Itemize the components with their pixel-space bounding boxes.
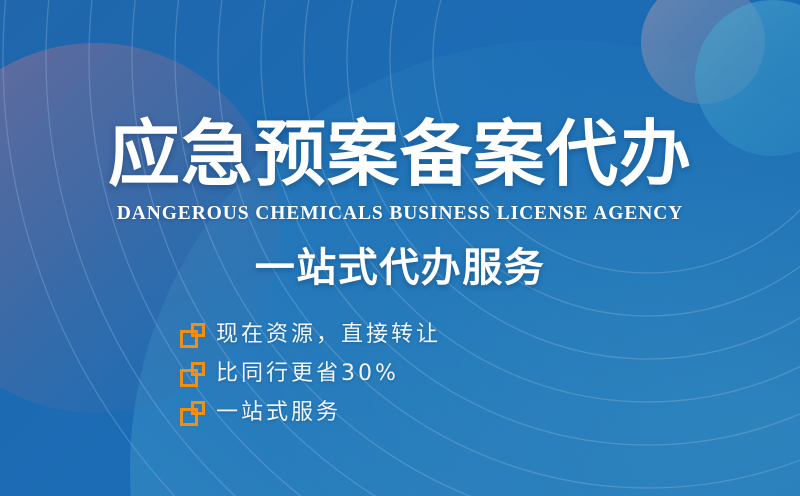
feature-item: 现在资源，直接转让 [180,318,441,352]
sub-title: 一站式代办服务 [0,243,800,293]
title-block: 应急预案备案代办 DANGEROUS CHEMICALS BUSINESS LI… [0,112,800,226]
feature-item-label: 一站式服务 [216,398,341,428]
overlapping-squares-icon [180,401,205,426]
main-title: 应急预案备案代办 [0,112,800,196]
feature-list: 现在资源，直接转让 比同行更省30% 一站式服务 [180,318,441,435]
overlapping-squares-icon [180,362,205,387]
promo-banner: 应急预案备案代办 DANGEROUS CHEMICALS BUSINESS LI… [0,0,800,496]
banner-content: 应急预案备案代办 DANGEROUS CHEMICALS BUSINESS LI… [0,0,800,496]
feature-item-label: 比同行更省30% [216,359,399,389]
english-subtitle: DANGEROUS CHEMICALS BUSINESS LICENSE AGE… [0,202,800,226]
overlapping-squares-icon [180,323,205,348]
feature-item-label: 现在资源，直接转让 [216,320,441,350]
feature-item: 比同行更省30% [180,357,441,391]
feature-item: 一站式服务 [180,396,441,430]
